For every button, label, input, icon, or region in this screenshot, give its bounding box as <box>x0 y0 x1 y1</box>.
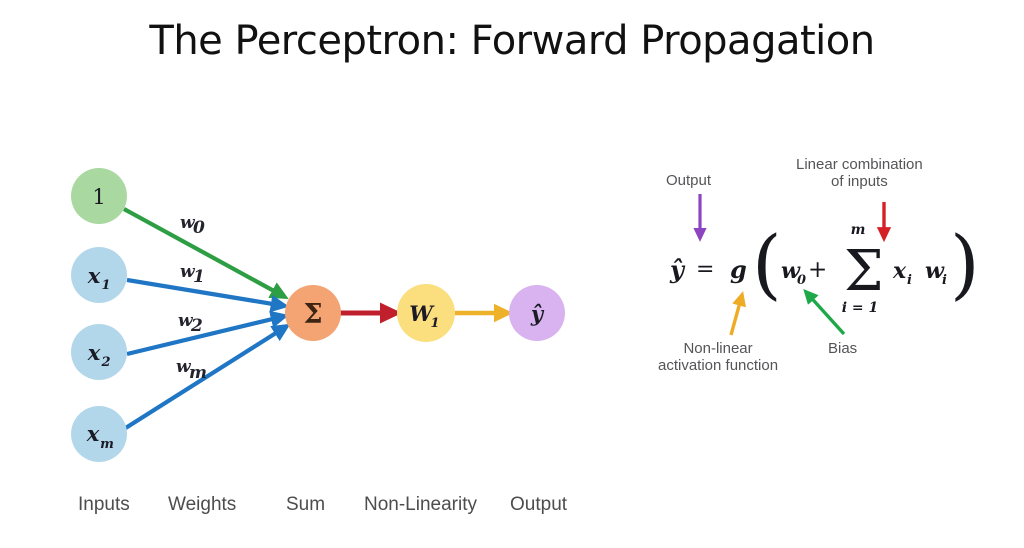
node-input-xm[interactable]: x m <box>71 406 127 462</box>
edge-x2-to-sum <box>127 316 285 354</box>
equation-sigma: Σ <box>844 239 884 304</box>
stage-label-non-linearity: Non-Linearity <box>364 494 477 516</box>
node-input-x1[interactable]: x 1 <box>71 247 127 303</box>
equation-sigma-lower-limit: i = 1 <box>842 300 879 316</box>
node-input-x1-label: x <box>87 263 101 288</box>
equation-lhs: ŷ <box>669 255 686 284</box>
node-input-x1-subscript: 1 <box>101 278 110 293</box>
stage-label-output: Output <box>510 494 567 516</box>
node-bias-label: 1 <box>92 185 105 209</box>
node-output-label: ŷ <box>530 301 545 326</box>
weight-label-w0-subscript: 0 <box>193 218 205 238</box>
equation-equals: = <box>696 257 714 282</box>
weight-label-w1-subscript: 1 <box>193 267 205 287</box>
node-input-x2-label: x <box>87 340 101 365</box>
weight-label-w0: w 0 <box>180 213 205 238</box>
stage-label-sum: Sum <box>286 494 325 516</box>
weight-label-w1: w 1 <box>180 262 205 287</box>
annotation-bias-arrow <box>806 292 844 334</box>
stage-label-weights: Weights <box>168 494 236 516</box>
node-input-x2-subscript: 2 <box>100 355 110 370</box>
equation-term-w-subscript: i <box>942 273 947 288</box>
equation-close-paren: ) <box>950 219 980 308</box>
equation-plus: + <box>808 257 827 283</box>
stage-label-inputs: Inputs <box>78 494 130 516</box>
node-sum[interactable]: Σ <box>285 285 341 341</box>
node-sum-label: Σ <box>303 299 322 330</box>
weight-label-w2-subscript: 2 <box>190 316 203 336</box>
equation-activation-g: g <box>730 255 747 284</box>
equation-term-x-subscript: i <box>907 273 912 288</box>
equation-open-paren: ( <box>752 219 782 308</box>
node-input-xm-subscript: m <box>100 437 114 452</box>
weight-label-w2: w 2 <box>178 311 203 336</box>
node-output[interactable]: ŷ <box>509 285 565 341</box>
weight-label-wm: w m <box>176 357 207 383</box>
node-bias[interactable]: 1 <box>71 168 127 224</box>
node-nonlinearity-subscript: 1 <box>430 316 439 331</box>
stage-label-row: Inputs Weights Sum Non-Linearity Output <box>0 494 620 526</box>
equation-sigma-upper-limit: m <box>851 222 866 238</box>
equation-term-x: x <box>892 258 907 284</box>
equation-bias-subscript: 0 <box>797 273 806 288</box>
node-input-x2[interactable]: x 2 <box>71 324 127 380</box>
equation-svg: ŷ = g ( w 0 + Σ m i = 1 x i w i ) <box>648 150 1008 395</box>
node-input-xm-label: x <box>86 421 100 446</box>
annotation-activation-arrow <box>731 295 742 335</box>
weight-label-wm-subscript: m <box>189 363 207 383</box>
equation-panel: Output Linear combination of inputs Non-… <box>648 150 1008 395</box>
node-nonlinearity[interactable]: W 1 <box>397 284 455 342</box>
